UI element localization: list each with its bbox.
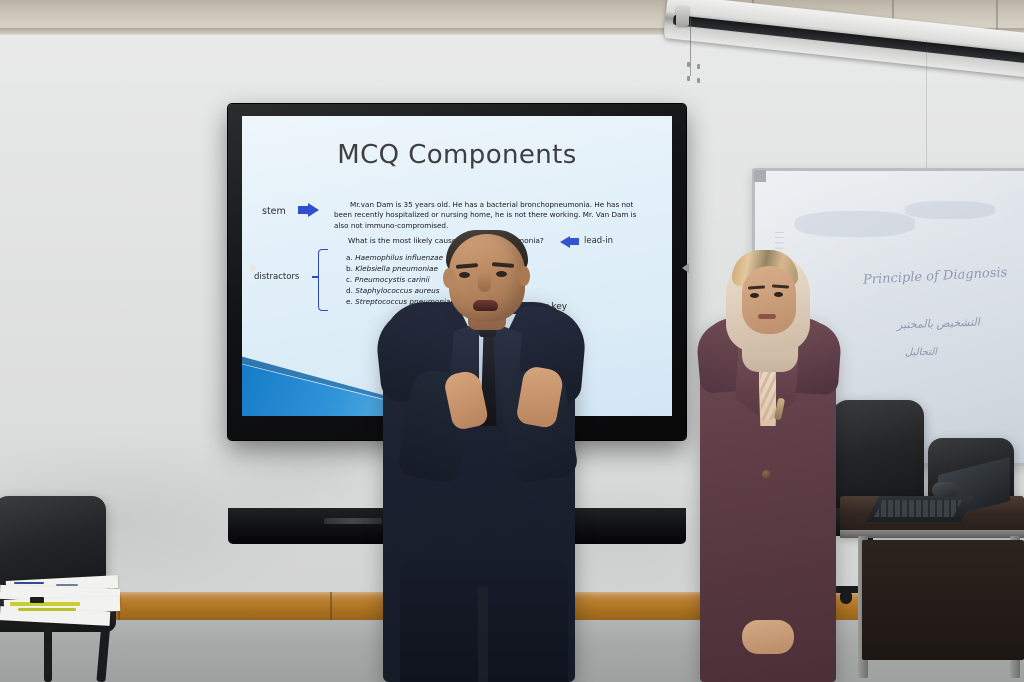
laptop-keyboard[interactable]: [874, 500, 962, 517]
cord-clip: [697, 64, 700, 69]
option-text: Pneumocystis carinii: [355, 275, 430, 284]
option-letter: c.: [346, 275, 352, 284]
lead-in-arrow-head: [560, 236, 570, 248]
male-nose: [478, 272, 491, 292]
lead-in-arrow-tail: [570, 238, 579, 245]
option-text: Staphylococcus aureus: [355, 286, 439, 295]
female-eye-left: [750, 293, 759, 298]
rail-bracket: [676, 6, 689, 26]
paper-highlight: [10, 602, 80, 606]
option-letter: e.: [346, 297, 353, 306]
whiteboard-corner-bracket: [754, 170, 766, 182]
female-blazer-button: [762, 470, 771, 479]
desk: [840, 496, 1024, 682]
distractor-brace: [318, 249, 328, 311]
male-eye-right: [496, 271, 507, 277]
option-text: Klebsiella pneumoniae: [355, 264, 438, 273]
male-ear-right: [518, 266, 530, 286]
slide-title: MCQ Components: [242, 140, 672, 170]
whiteboard-line-3: التحاليل: [905, 347, 937, 359]
whiteboard-smudge: [795, 211, 915, 237]
whiteboard-smudge: [905, 201, 995, 219]
male-eye-left: [459, 272, 470, 278]
cord-clip: [687, 62, 690, 67]
hanging-cord: [690, 18, 691, 76]
slide-stem-text: Mr.van Dam is 35 years old. He has a bac…: [334, 200, 644, 231]
paper-stack[interactable]: [0, 578, 128, 624]
option-letter: a.: [346, 253, 353, 262]
paper-mark: [14, 582, 44, 584]
option-letter: b.: [346, 264, 353, 273]
female-face: [742, 266, 796, 334]
slide-label-stem: stem: [262, 206, 286, 217]
stem-arrow-head: [308, 203, 319, 217]
stem-arrow-tail: [298, 206, 308, 214]
cord-clip: [697, 78, 700, 83]
display-right-marker-icon: [682, 263, 689, 273]
male-ear-left: [443, 268, 455, 288]
computer-mouse[interactable]: [932, 482, 958, 497]
female-mouth: [758, 314, 776, 319]
slide-label-distractors: distractors: [254, 272, 299, 282]
female-eye-right: [774, 292, 783, 297]
display-left-marker-icon: [250, 263, 257, 273]
option-letter: d.: [346, 286, 353, 295]
male-leg-separation: [478, 586, 488, 682]
paper-mark: [56, 584, 78, 586]
paper-mark: [30, 597, 44, 603]
desk-modesty-panel: [862, 540, 1024, 660]
display-brand-bar: [324, 518, 382, 524]
female-hands: [742, 620, 794, 654]
paper-highlight: [18, 608, 76, 611]
male-mouth: [473, 300, 498, 311]
slide-label-lead-in: lead-in: [584, 236, 613, 246]
classroom-scene: | | | | Principle of Diagnosis التشخيص ب…: [0, 0, 1024, 682]
chair-leg: [44, 624, 52, 682]
option-text: Haemophilus influenzae: [355, 253, 443, 262]
cord-clip: [687, 76, 690, 81]
